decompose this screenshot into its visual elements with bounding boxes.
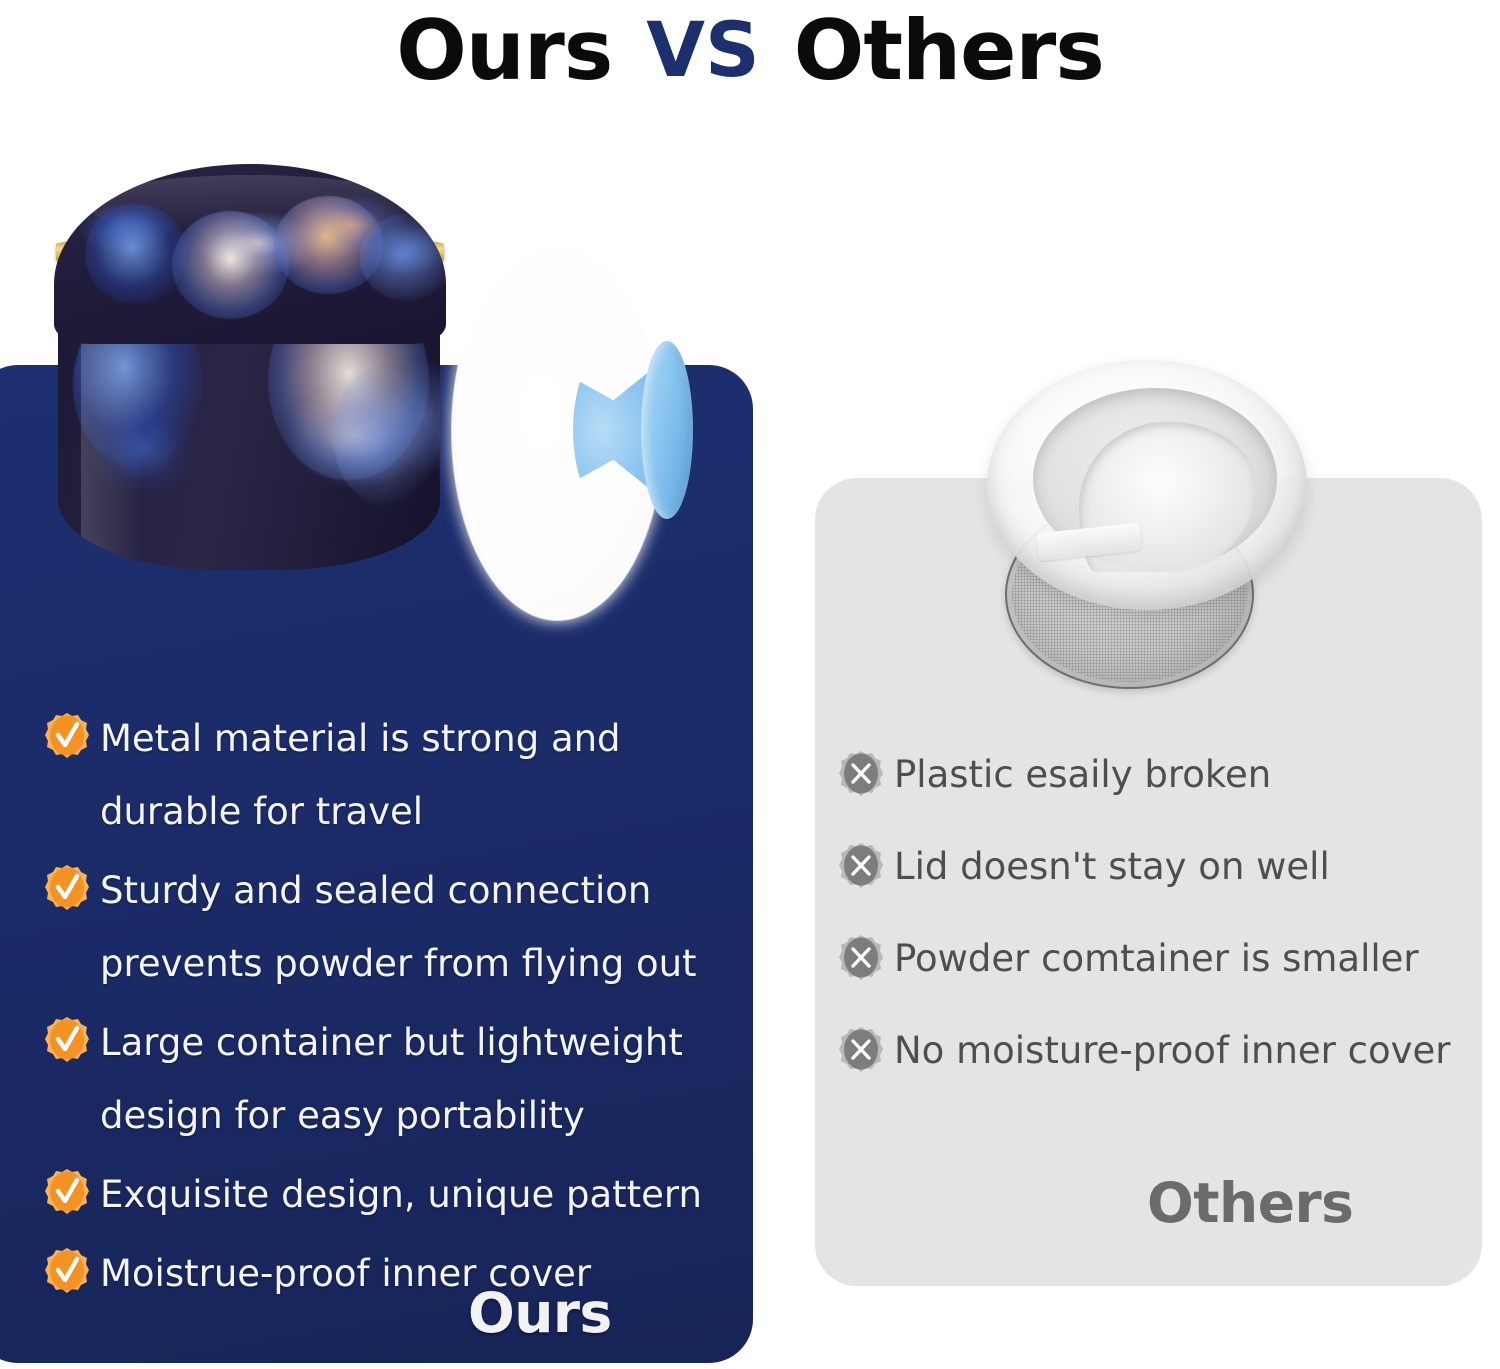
title-word-others: Others bbox=[794, 9, 1104, 92]
list-item-label: Powder comtainer is smaller bbox=[894, 932, 1419, 986]
cross-badge-icon bbox=[838, 934, 884, 986]
title-word-vs: VS bbox=[646, 12, 760, 88]
list-item-label: Large container but lightweight design f… bbox=[100, 1006, 683, 1152]
check-badge-icon bbox=[44, 864, 90, 916]
list-item: Plastic esaily broken bbox=[838, 748, 1458, 802]
jar-lid bbox=[54, 164, 446, 344]
title-word-ours: Ours bbox=[396, 9, 612, 92]
list-item: Sturdy and sealed connection prevents po… bbox=[44, 854, 714, 1000]
floral-accent bbox=[360, 214, 446, 300]
list-item: Large container but lightweight design f… bbox=[44, 1006, 714, 1152]
cross-badge-icon bbox=[838, 750, 884, 802]
plastic-bowl bbox=[987, 360, 1307, 610]
check-badge-icon bbox=[44, 1247, 90, 1299]
list-item-label: Exquisite design, unique pattern bbox=[100, 1158, 702, 1231]
list-item-label: Metal material is strong and durable for… bbox=[100, 702, 621, 848]
list-item-label: Sturdy and sealed connection prevents po… bbox=[100, 854, 697, 1000]
others-panel-label: Others bbox=[1147, 1176, 1353, 1231]
floral-accent bbox=[172, 211, 290, 319]
list-item: Lid doesn't stay on well bbox=[838, 840, 1458, 894]
page-title: Ours VS Others bbox=[0, 2, 1500, 98]
ours-panel-label: Ours bbox=[468, 1286, 612, 1341]
list-item: Moistrue-proof inner cover bbox=[44, 1237, 714, 1310]
puff-knob bbox=[641, 341, 693, 519]
list-item-label: Lid doesn't stay on well bbox=[894, 840, 1330, 894]
check-badge-icon bbox=[44, 1016, 90, 1068]
ours-feature-list: Metal material is strong and durable for… bbox=[44, 702, 714, 1316]
floral-accent bbox=[333, 365, 440, 506]
check-badge-icon bbox=[44, 712, 90, 764]
list-item: No moisture-proof inner cover bbox=[838, 1024, 1458, 1078]
check-badge-icon bbox=[44, 1168, 90, 1220]
list-item-label: No moisture-proof inner cover bbox=[894, 1024, 1451, 1078]
cross-badge-icon bbox=[838, 842, 884, 894]
others-feature-list: Plastic esaily broken Lid doesn't stay o… bbox=[838, 748, 1458, 1116]
cross-badge-icon bbox=[838, 1026, 884, 1078]
list-item: Powder comtainer is smaller bbox=[838, 932, 1458, 986]
powder-puff-image bbox=[455, 245, 690, 620]
list-item-label: Plastic esaily broken bbox=[894, 748, 1271, 802]
others-product-image bbox=[975, 350, 1320, 695]
list-item: Metal material is strong and durable for… bbox=[44, 702, 714, 848]
list-item: Exquisite design, unique pattern bbox=[44, 1158, 714, 1231]
floral-accent bbox=[85, 204, 187, 305]
